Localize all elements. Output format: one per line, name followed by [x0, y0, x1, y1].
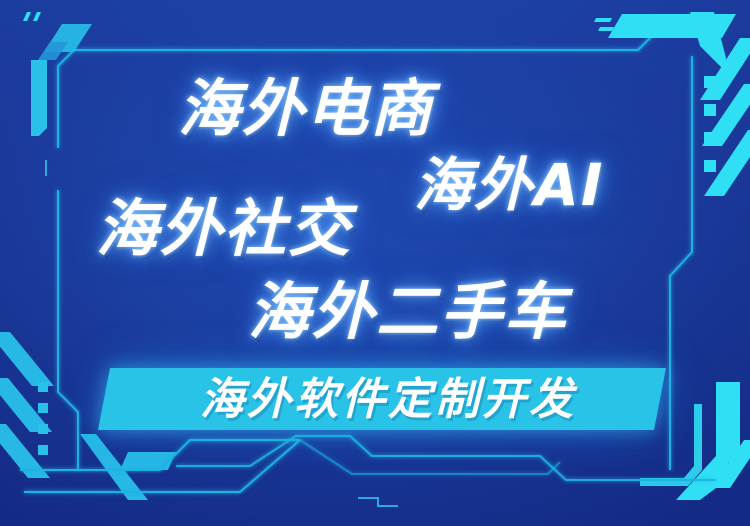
small-step-trace	[358, 498, 398, 506]
trace-line	[20, 440, 300, 470]
circuit-traces	[20, 440, 735, 498]
tech-poster: 海外电商 海外AI 海外社交 海外二手车 海外软件定制开发	[0, 0, 750, 526]
trace-line	[24, 440, 300, 492]
circuit-trace-layer	[0, 0, 750, 526]
trace-line	[358, 498, 398, 506]
